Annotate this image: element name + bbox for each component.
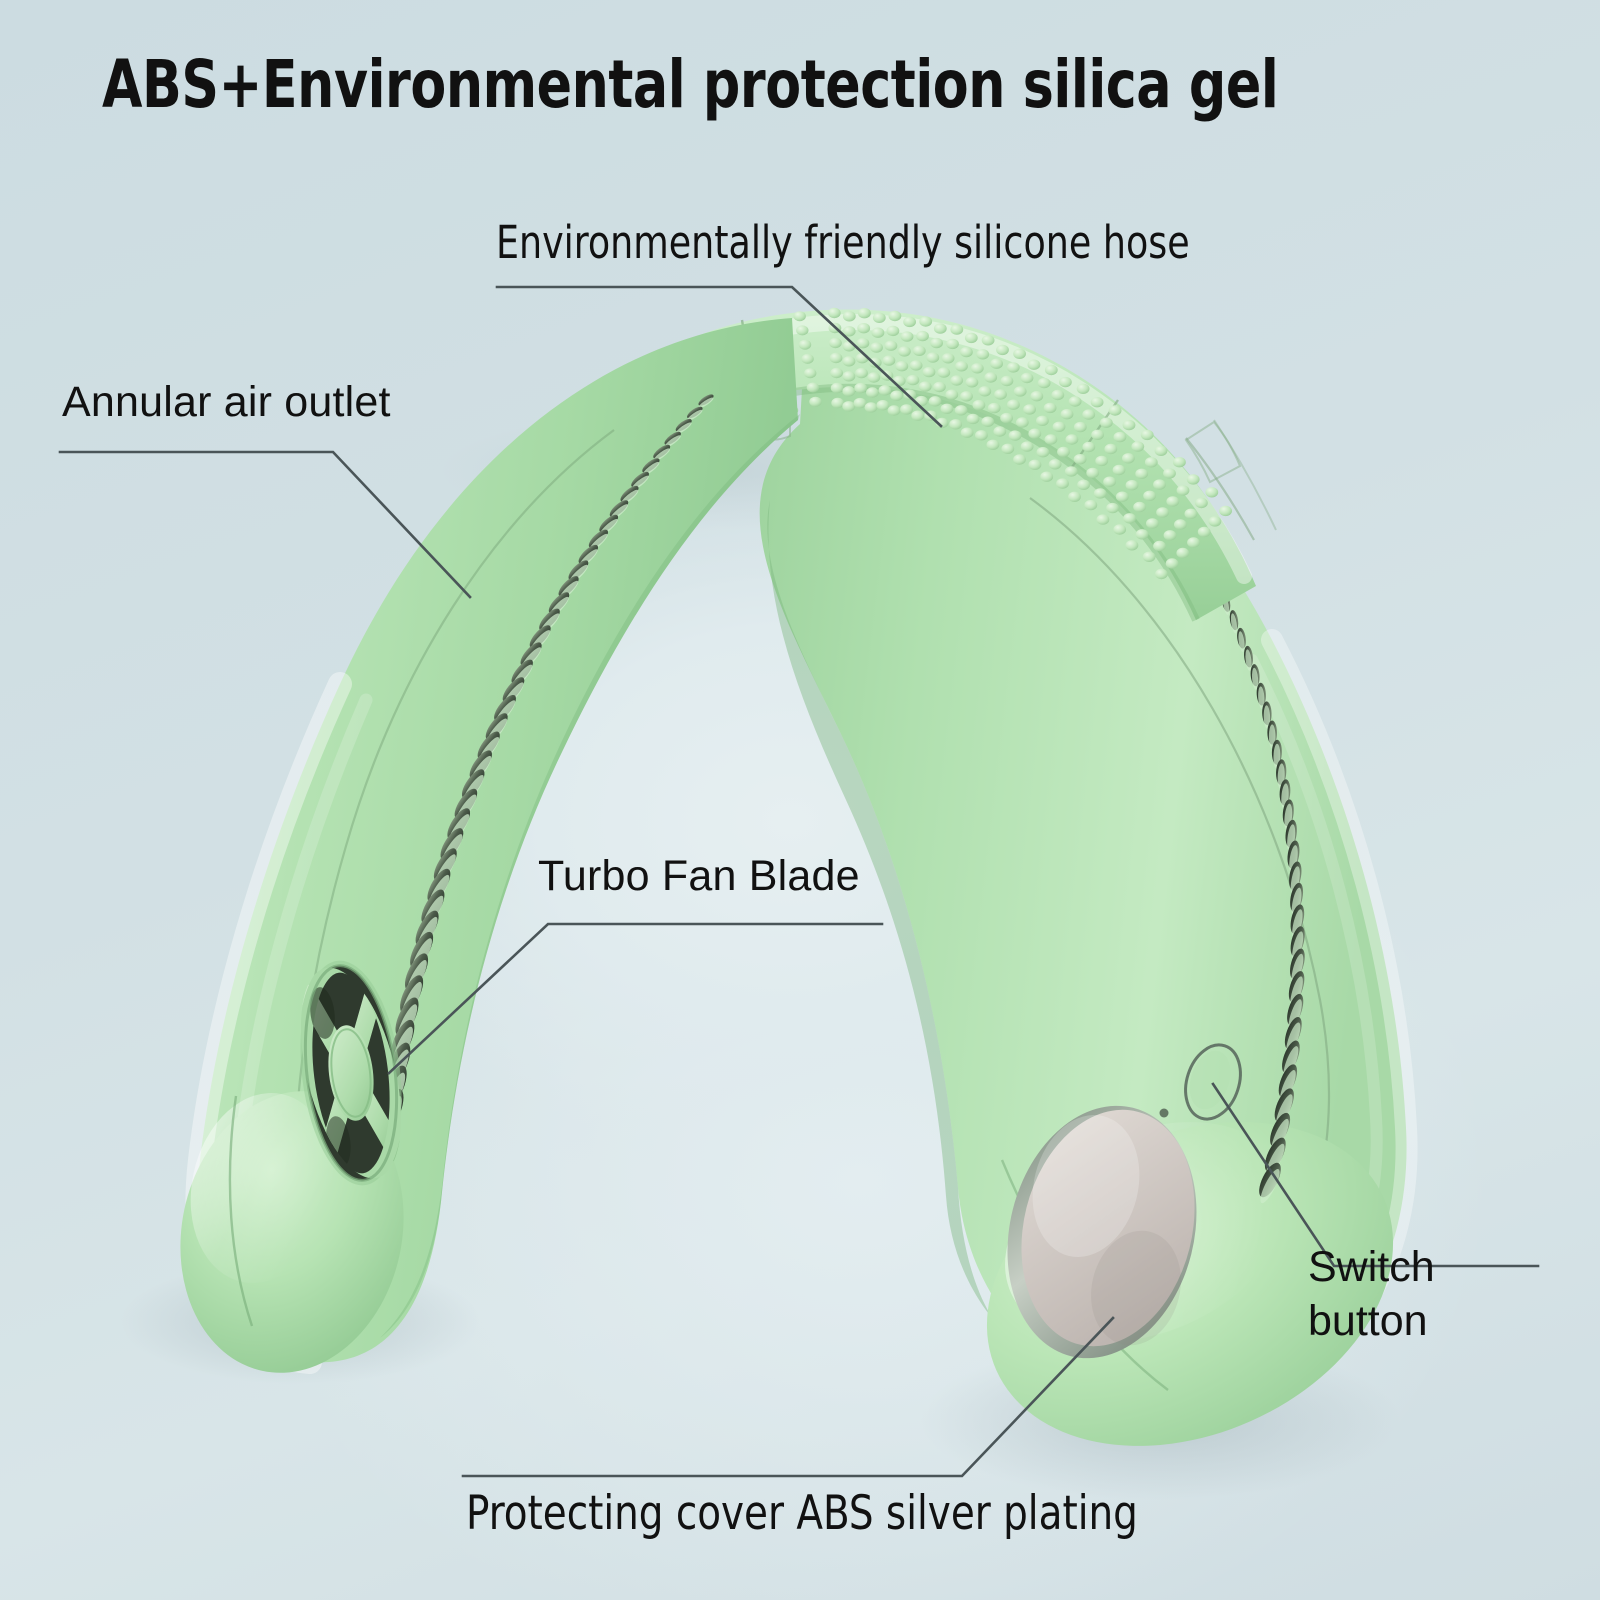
annotation-label-switch-button: Switch button	[1308, 1240, 1548, 1348]
leader-switch	[1213, 1084, 1538, 1266]
annotation-label-silver-plating: Protecting cover ABS silver plating	[466, 1486, 1138, 1541]
annotation-label-annular-air-outlet: Annular air outlet	[62, 378, 391, 427]
leader-plating	[463, 1318, 1113, 1476]
annotation-label-silicone-hose: Environmentally friendly silicone hose	[496, 216, 1190, 269]
page-title: ABS+Environmental protection silica gel	[102, 46, 1278, 123]
switch-label-line-2: button	[1308, 1294, 1548, 1348]
switch-label-line-1: Switch	[1308, 1240, 1548, 1294]
leader-air-outlet	[60, 452, 470, 597]
leader-turbo	[389, 924, 882, 1073]
annotation-label-turbo-fan-blade: Turbo Fan Blade	[538, 852, 860, 901]
infographic-canvas: ABS+Environmental protection silica gel …	[0, 0, 1600, 1600]
leader-hose	[497, 287, 941, 426]
